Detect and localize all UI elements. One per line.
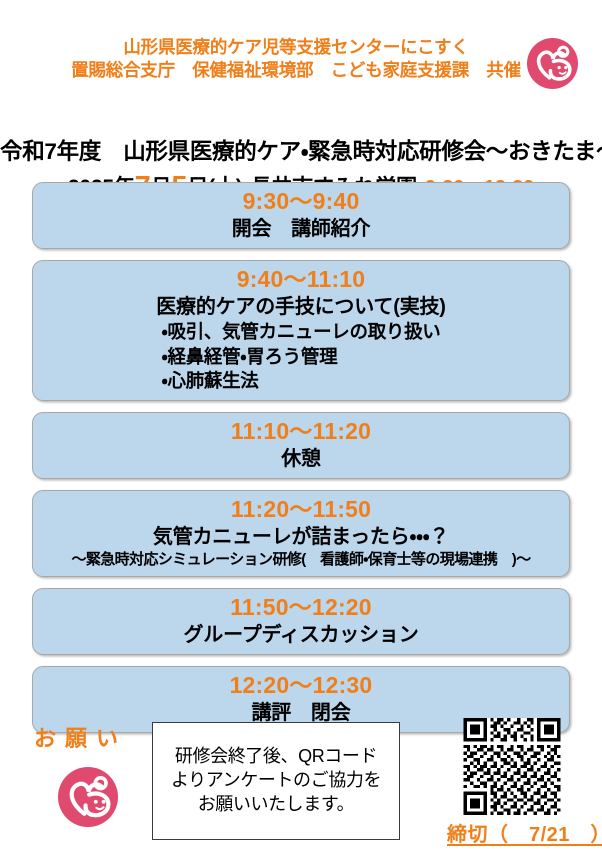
schedule-title: グループディスカッション (33, 622, 569, 648)
schedule-block: 9:40～11:10 医療的ケアの手技について(実技) ・吸引、気管カニューレの… (32, 260, 570, 400)
organizer-line-2: 置賜総合支庁 保健福祉環境部 こども家庭支援課 共催 (0, 59, 592, 82)
nicosuku-logo-icon (58, 767, 118, 827)
notice-text: 研修会終了後、QRコード よりアンケートのご協力を お願いいたします。 (171, 745, 381, 816)
onegai-label: お願い (34, 721, 127, 753)
schedule-block: 11:50～12:20 グループディスカッション (32, 588, 570, 655)
notice-line-3: お願いいたします。 (171, 793, 381, 817)
event-title: 令和7年度 山形県医療的ケア・緊急時対応研修会～おきたま～ (0, 134, 602, 166)
schedule-time: 12:20～12:30 (33, 671, 569, 700)
schedule-title: 開会 講師紹介 (33, 216, 569, 242)
schedule-title: 休憩 (33, 446, 569, 472)
schedule-time: 9:30～9:40 (33, 187, 569, 216)
qr-code[interactable] (455, 718, 569, 815)
schedule-time: 11:10～11:20 (33, 417, 569, 446)
schedule-subtitle: ～緊急時対応シミュレーション研修( 看護師・保育士等の現場連携 )～ (33, 550, 569, 570)
deadline-label[interactable]: 締切（ 7/21 ） (447, 818, 579, 847)
organizer-block: 山形県医療的ケア児等支援センターにこすく 置賜総合支庁 保健福祉環境部 こども家… (0, 36, 602, 83)
schedule-bullets: ・吸引、気管カニューレの取り扱い ・経鼻経管・胃ろう管理 ・心肺蘇生法 (162, 320, 441, 393)
footer: お願い 研修会終了後、QRコード よりアンケートのご協力を お願いいたします。 (0, 705, 602, 849)
notice-line-1: 研修会終了後、QRコード (171, 745, 381, 769)
schedule-list: 9:30～9:40 開会 講師紹介 9:40～11:10 医療的ケアの手技につい… (32, 182, 570, 744)
schedule-bullet: ・心肺蘇生法 (162, 369, 441, 393)
notice-line-2: よりアンケートのご協力を (171, 769, 381, 793)
schedule-block: 11:20～11:50 気管カニューレが詰まったら・・・？ ～緊急時対応シミュレ… (32, 490, 570, 577)
schedule-time: 11:50～12:20 (33, 593, 569, 622)
schedule-time: 11:20～11:50 (33, 495, 569, 524)
schedule-time: 9:40～11:10 (33, 265, 569, 294)
schedule-title: 気管カニューレが詰まったら・・・？ (33, 524, 569, 550)
schedule-block: 11:10～11:20 休憩 (32, 412, 570, 479)
schedule-bullet: ・吸引、気管カニューレの取り扱い (162, 320, 441, 344)
nicosuku-logo-icon (527, 38, 578, 89)
schedule-title: 医療的ケアの手技について(実技) (33, 294, 569, 320)
notice-box: 研修会終了後、QRコード よりアンケートのご協力を お願いいたします。 (152, 722, 400, 840)
header: 山形県医療的ケア児等支援センターにこすく 置賜総合支庁 保健福祉環境部 こども家… (0, 36, 602, 83)
schedule-bullet: ・経鼻経管・胃ろう管理 (162, 345, 441, 369)
schedule-block: 9:30～9:40 開会 講師紹介 (32, 182, 570, 249)
flyer-page: 山形県医療的ケア児等支援センターにこすく 置賜総合支庁 保健福祉環境部 こども家… (0, 0, 602, 849)
organizer-line-1: 山形県医療的ケア児等支援センターにこすく (0, 36, 592, 59)
